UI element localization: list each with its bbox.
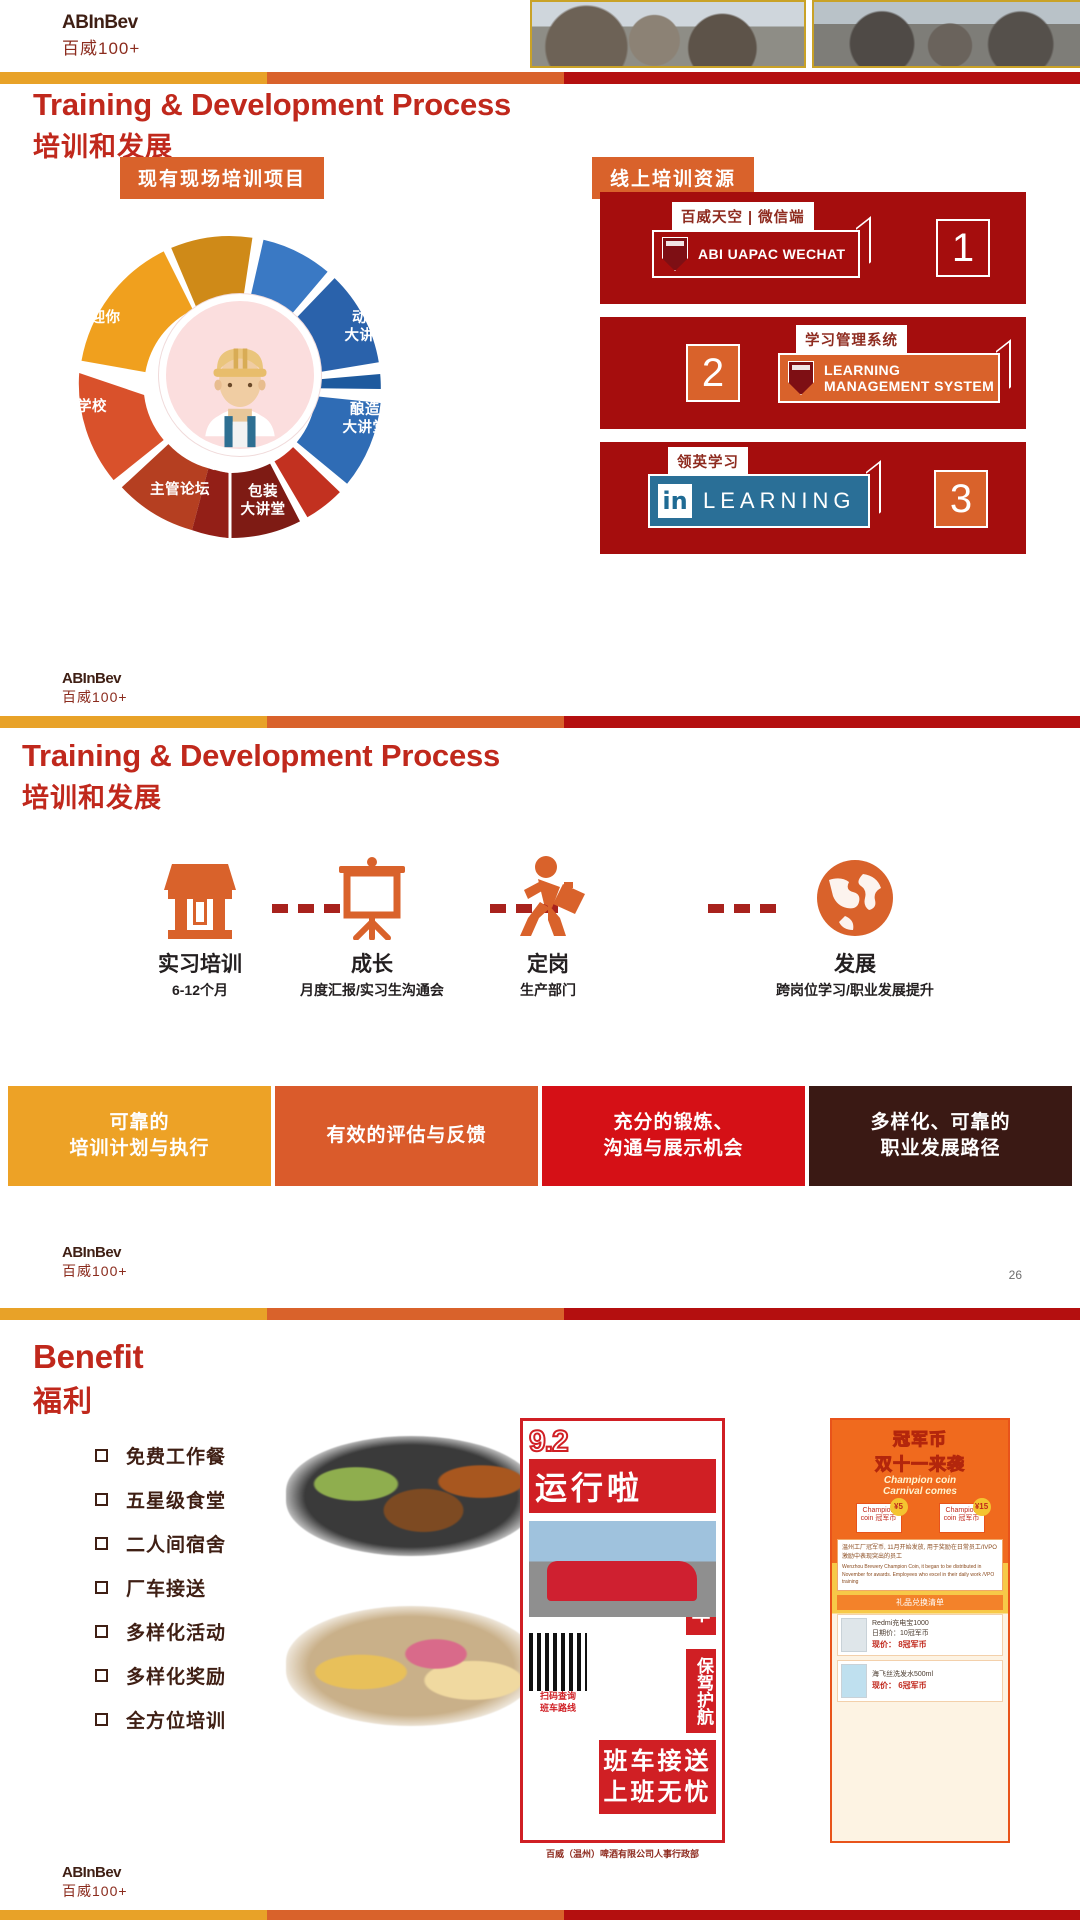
pillar-bar-1: 可靠的 培训计划与执行 — [8, 1086, 271, 1186]
poster-bus-cta-line2: 上班无忧 — [599, 1777, 716, 1808]
gate-torii-icon — [100, 856, 300, 940]
wheel-label-welcome: 百威欢迎你 — [38, 310, 128, 328]
checkbox-icon — [95, 1449, 108, 1462]
poster-champ-section-bar: 礼品兑换清单 — [837, 1595, 1003, 1610]
slide-benefit: Benefit 福利 免费工作餐 五星级食堂 二人间宿舍 厂车接送 多样化活动 … — [0, 1308, 1080, 1920]
onsite-training-pill: 现有现场培训项目 — [120, 157, 324, 199]
wheel-label-supervisor: 主管论坛 — [135, 482, 225, 500]
pillar-bar-4: 多样化、可靠的 职业发展路径 — [809, 1086, 1072, 1186]
poster-champ-product-1: Redmi充电宝1000 日期价：10冠军币 现价： 8冠军币 — [837, 1614, 1003, 1656]
flow-step-2: 成长 月度汇报/实习生沟通会 — [272, 856, 472, 1000]
slide2-accent-bar — [0, 716, 1080, 728]
brand-logo: ABInBev 百威100+ — [62, 1864, 128, 1901]
flow-step-1: 实习培训 6-12个月 — [100, 856, 300, 1000]
poster-bus-vertical-slogan: 保驾护航 — [686, 1649, 716, 1733]
poster-champ-body-cn: 温州工厂冠军币, 11月开始发放, 用于奖励在日常员工/IVPO激励中表现突出的… — [842, 1544, 998, 1561]
globe-icon — [755, 856, 955, 940]
slide3-title-cn: 福利 — [33, 1378, 143, 1420]
brand-logo-ab: ABInBev — [62, 670, 128, 687]
accent-orange — [267, 72, 564, 84]
poster-bus-qr-caption: 扫码查询 班车路线 — [529, 1691, 587, 1714]
brand-logo: ABInBev 百威100+ — [62, 12, 140, 59]
poster-champ-product-2-text: 海飞丝洗发水500ml 现价： 6冠军币 — [872, 1670, 933, 1692]
list-item: 免费工作餐 — [95, 1433, 226, 1477]
abinbev-shield-icon — [788, 361, 814, 395]
poster-champ-title-en: Champion coin Carnival comes — [837, 1475, 1003, 1497]
checkbox-icon — [95, 1581, 108, 1594]
online-card-1[interactable]: 百威天空 | 微信端 ABI UAPAC WECHAT 1 — [600, 192, 1026, 304]
online-card-3-tag: 领英学习 — [668, 447, 748, 476]
slide3-accent-bar — [0, 1308, 1080, 1320]
online-card-2-badge: LEARNING MANAGEMENT SYSTEM — [778, 353, 1000, 403]
online-card-1-number: 1 — [936, 219, 990, 277]
brand-logo-ab: ABInBev — [62, 1244, 128, 1261]
accent-red — [564, 1308, 1080, 1320]
worker-avatar-icon — [159, 294, 321, 456]
online-card-2-number: 2 — [686, 344, 740, 402]
list-item: 厂车接送 — [95, 1565, 226, 1609]
poster-bus-headline: 运行啦 — [529, 1459, 716, 1513]
poster-bus-photo — [529, 1521, 716, 1617]
photo-strip — [530, 0, 1080, 72]
online-card-1-tag: 百威天空 | 微信端 — [672, 202, 814, 231]
benefit-label: 厂车接送 — [126, 1574, 206, 1601]
online-card-2-badge-text: LEARNING MANAGEMENT SYSTEM — [824, 362, 998, 394]
benefit-label: 全方位培训 — [126, 1706, 226, 1733]
slide-training-development-1: Training & Development Process 培训和发展 现有现… — [0, 72, 1080, 716]
poster-champ-title-cn: 冠军币 双十一来袭 — [837, 1425, 1003, 1475]
poster-champ-product-2: 海飞丝洗发水500ml 现价： 6冠军币 — [837, 1660, 1003, 1702]
champion-coin-poster: 冠军币 双十一来袭 Champion coin Carnival comes C… — [830, 1418, 1010, 1843]
slide3-title-en: Benefit — [33, 1338, 143, 1376]
flow-step-2-label: 成长 — [272, 948, 472, 978]
product-1-name: Redmi充电宝1000 — [872, 1619, 929, 1629]
list-item: 全方位培训 — [95, 1697, 226, 1741]
wheel-label-brewing: 酿造 大讲堂 — [320, 402, 410, 437]
product-image-icon — [841, 1664, 867, 1698]
team-photo-1 — [530, 0, 806, 68]
list-item: 多样化奖励 — [95, 1653, 226, 1697]
slide1-accent-bar — [0, 72, 1080, 84]
brand-logo: ABInBev 百威100+ — [62, 670, 128, 707]
canteen-dessert-photo-2 — [286, 1606, 536, 1726]
online-card-3[interactable]: 领英学习 in LEARNING 3 — [600, 442, 1026, 554]
accent-orange — [267, 716, 564, 728]
benefits-list: 免费工作餐 五星级食堂 二人间宿舍 厂车接送 多样化活动 多样化奖励 全方位培训 — [95, 1433, 226, 1741]
brand-logo: ABInBev 百威100+ — [62, 1244, 128, 1281]
checkbox-icon — [95, 1625, 108, 1638]
coin-badge-1-value: ¥5 — [890, 1498, 908, 1516]
training-wheel: 百威欢迎你 班长学校 主管论坛 包装 大讲堂 酿造 大讲堂 动力 大讲堂 — [20, 222, 440, 552]
poster-champ-coins: Champion coin 冠军币 ¥5 Champion coin 冠军币 ¥… — [837, 1503, 1003, 1533]
slide3-bottom-accent-bar — [0, 1910, 1080, 1920]
online-card-1-badge-text: ABI UAPAC WECHAT — [698, 246, 845, 262]
list-item: 五星级食堂 — [95, 1477, 226, 1521]
page-number: 26 — [1009, 1268, 1022, 1282]
poster-bus-cta-line1: 班车接送 — [599, 1746, 716, 1777]
product-1-note: 日期价：10冠军币 — [872, 1629, 929, 1639]
benefit-label: 五星级食堂 — [126, 1486, 226, 1513]
checkbox-icon — [95, 1713, 108, 1726]
running-person-briefcase-icon — [448, 856, 648, 940]
brand-logo-cn: 百威100+ — [62, 687, 128, 707]
accent-red — [564, 716, 1080, 728]
poster-bus-date: 9.2 — [529, 1427, 716, 1457]
brand-logo-cn: 百威100+ — [62, 34, 140, 59]
process-flow: 实习培训 6-12个月 成长 月度汇报/实习生沟通会 — [0, 856, 1080, 1026]
coin-badge-2: Champion coin 冠军币 ¥15 — [939, 1503, 985, 1533]
slide2-title-cn: 培训和发展 — [22, 776, 500, 815]
online-card-2-tag: 学习管理系统 — [796, 325, 907, 354]
presentation-board-icon — [272, 856, 472, 940]
benefit-label: 免费工作餐 — [126, 1442, 226, 1469]
flow-step-4-label: 发展 — [755, 948, 955, 978]
flow-step-1-sub: 6-12个月 — [100, 980, 300, 1000]
checkbox-icon — [95, 1669, 108, 1682]
flow-step-1-label: 实习培训 — [100, 948, 300, 978]
online-card-2[interactable]: 学习管理系统 LEARNING MANAGEMENT SYSTEM 2 — [600, 317, 1026, 429]
pillar-bars: 可靠的 培训计划与执行 有效的评估与反馈 充分的锻炼、 沟通与展示机会 多样化、… — [8, 1086, 1072, 1186]
poster-champ-body: 温州工厂冠军币, 11月开始发放, 用于奖励在日常员工/IVPO激励中表现突出的… — [837, 1539, 1003, 1591]
poster-bus-footer: 百威（温州）啤酒有限公司人事行政部 — [523, 1847, 722, 1860]
online-card-3-number: 3 — [934, 470, 988, 528]
accent-amber — [0, 1308, 267, 1320]
poster-bus-cta: 班车接送 上班无忧 — [599, 1740, 716, 1814]
flow-step-4-sub: 跨岗位学习/职业发展提升 — [755, 980, 955, 1000]
slide1-title-block: Training & Development Process 培训和发展 — [33, 87, 511, 164]
flow-step-3-label: 定岗 — [448, 948, 648, 978]
online-card-3-badge-text: LEARNING — [703, 488, 855, 514]
flow-step-3: 定岗 生产部门 — [448, 856, 648, 1000]
flow-step-3-sub: 生产部门 — [448, 980, 648, 1000]
abinbev-shield-icon — [662, 237, 688, 271]
list-item: 多样化活动 — [95, 1609, 226, 1653]
benefit-label: 多样化奖励 — [126, 1662, 226, 1689]
product-image-icon — [841, 1618, 867, 1652]
accent-orange — [267, 1910, 564, 1920]
slide2-title-en: Training & Development Process — [22, 738, 500, 774]
slide2-title-block: Training & Development Process 培训和发展 — [22, 738, 500, 815]
pillar-bar-2: 有效的评估与反馈 — [275, 1086, 538, 1186]
wheel-seg-5b — [316, 374, 381, 389]
slide-header-strip: ABInBev 百威100+ — [0, 0, 1080, 72]
accent-amber — [0, 72, 267, 84]
accent-orange — [267, 1308, 564, 1320]
slide3-title-block: Benefit 福利 — [33, 1338, 143, 1420]
qr-code-icon[interactable] — [529, 1633, 587, 1691]
brand-logo-cn: 百威100+ — [62, 1881, 128, 1901]
coin-badge-1: Champion coin 冠军币 ¥5 — [856, 1503, 902, 1533]
slide1-title-en: Training & Development Process — [33, 87, 511, 123]
linkedin-in-icon: in — [658, 484, 692, 518]
canteen-food-photo-1 — [286, 1436, 536, 1556]
product-1-price: 现价： 8冠军币 — [872, 1640, 927, 1649]
wheel-label-foreman: 班长学校 — [32, 399, 122, 417]
benefit-label: 多样化活动 — [126, 1618, 226, 1645]
flow-step-2-sub: 月度汇报/实习生沟通会 — [272, 980, 472, 1000]
wheel-label-packaging: 包装 大讲堂 — [218, 484, 308, 519]
accent-amber — [0, 1910, 267, 1920]
online-card-1-badge: ABI UAPAC WECHAT — [652, 230, 860, 278]
checkbox-icon — [95, 1537, 108, 1550]
slide-training-development-2: Training & Development Process 培训和发展 实习培… — [0, 716, 1080, 1308]
wheel-label-power: 动力 大讲堂 — [322, 310, 412, 345]
brand-logo-ab: ABInBev — [62, 12, 140, 34]
team-photo-2 — [812, 0, 1080, 68]
brand-logo-ab: ABInBev — [62, 1864, 128, 1881]
poster-champ-body-en: Wenzhou Brewery Champion Coin, it began … — [842, 1564, 998, 1586]
coin-badge-2-value: ¥15 — [973, 1498, 991, 1516]
checkbox-icon — [95, 1493, 108, 1506]
online-card-3-badge: in LEARNING — [648, 474, 870, 528]
list-item: 二人间宿舍 — [95, 1521, 226, 1565]
shuttle-bus-poster: 9.2 运行啦 班车 保驾护航 扫码查询 班车路线 班车接送 上班无忧 百威（温… — [520, 1418, 725, 1843]
flow-step-4: 发展 跨岗位学习/职业发展提升 — [755, 856, 955, 1000]
benefit-label: 二人间宿舍 — [126, 1530, 226, 1557]
product-2-price: 现价： 6冠军币 — [872, 1681, 927, 1690]
pillar-bar-3: 充分的锻炼、 沟通与展示机会 — [542, 1086, 805, 1186]
accent-red — [564, 1910, 1080, 1920]
poster-champ-product-1-text: Redmi充电宝1000 日期价：10冠军币 现价： 8冠军币 — [872, 1619, 929, 1650]
accent-amber — [0, 716, 267, 728]
brand-logo-cn: 百威100+ — [62, 1261, 128, 1281]
product-2-name: 海飞丝洗发水500ml — [872, 1670, 933, 1680]
accent-red — [564, 72, 1080, 84]
